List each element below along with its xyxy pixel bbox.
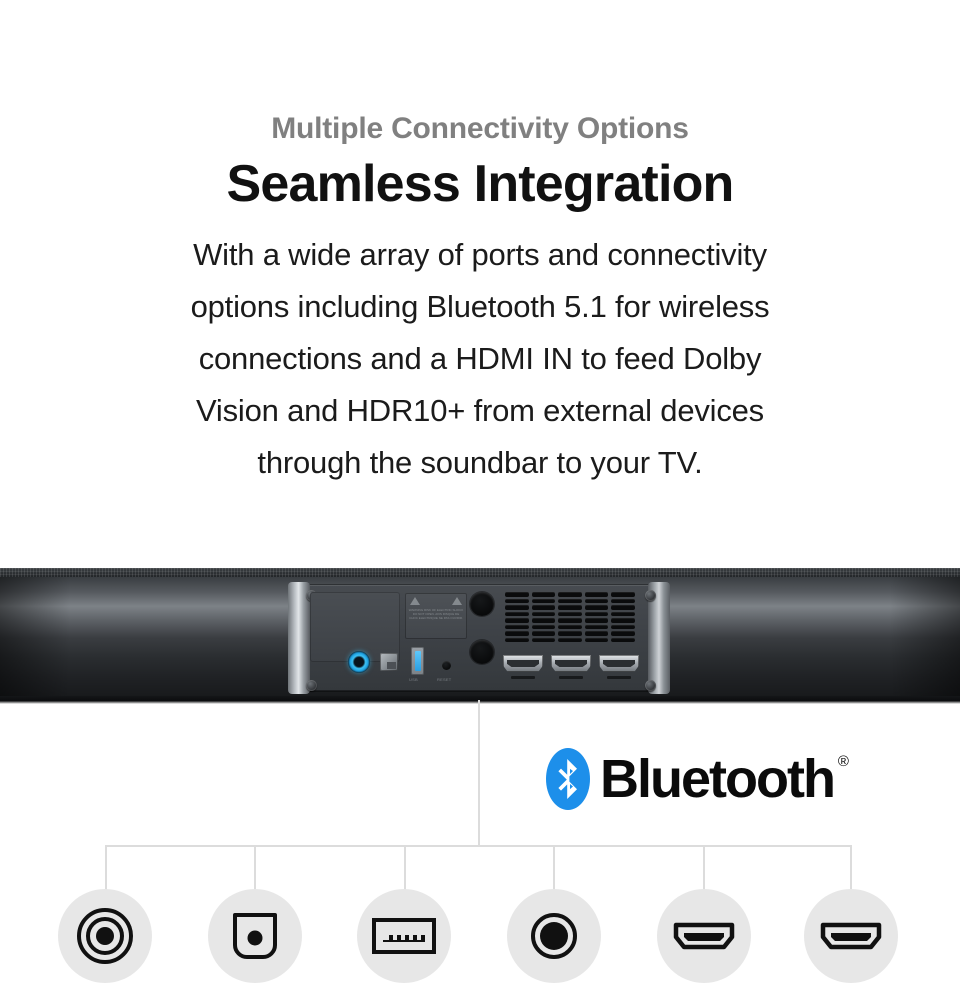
driver-hole-upper (470, 592, 494, 616)
warning-triangle-icon (452, 597, 462, 605)
vent-column (585, 592, 609, 642)
hdmi-port-shadow (559, 676, 583, 679)
panel-screw-top-right (645, 590, 656, 601)
registered-trademark-icon: ® (838, 754, 849, 769)
usb-icon (371, 915, 437, 957)
connector-line-drop (254, 846, 256, 891)
hdmi-port-shadow (511, 676, 535, 679)
connectivity-icon-hdmi-in (657, 889, 751, 983)
bluetooth-icon (546, 748, 590, 810)
bluetooth-logo: Bluetooth ® (546, 748, 834, 810)
body-line: connections and a HDMI IN to feed Dolby (0, 333, 960, 385)
page-title: Seamless Integration (0, 157, 960, 212)
connector-line-drop (850, 846, 852, 891)
driver-hole-lower (470, 640, 494, 664)
usb-port-caption: USB (409, 677, 418, 682)
connector-line-vertical-main (478, 700, 480, 847)
usb-jack (411, 647, 424, 675)
connector-line-horizontal (105, 845, 852, 847)
panel-screw-bottom-right (645, 680, 656, 691)
panel-screw-bottom-left (306, 680, 317, 691)
connector-line-drop (105, 846, 107, 891)
body-line: through the soundbar to your TV. (0, 437, 960, 489)
body-line: options including Bluetooth 5.1 for wire… (0, 281, 960, 333)
connector-line-drop (553, 846, 555, 891)
hdmi-in-icon (672, 919, 736, 953)
reset-port-caption: RESET (437, 677, 451, 682)
soundbar-bottom-edge (0, 696, 960, 704)
coaxial-icon (74, 905, 136, 967)
vent-column (505, 592, 529, 642)
connectivity-icon-coaxial (58, 889, 152, 983)
body-line: Vision and HDR10+ from external devices (0, 385, 960, 437)
hdmi-port-1 (503, 655, 543, 672)
vent-column (532, 592, 556, 642)
bluetooth-wordmark: Bluetooth ® (600, 752, 834, 806)
hdmi-port-shadow (607, 676, 631, 679)
eyebrow-text: Multiple Connectivity Options (0, 112, 960, 147)
vent-column (558, 592, 582, 642)
marketing-copy-block: Multiple Connectivity Options Seamless I… (0, 0, 960, 489)
bluetooth-wordmark-text: Bluetooth (600, 749, 834, 809)
connectivity-icon-usb (357, 889, 451, 983)
hdmi-out-icon (819, 919, 883, 953)
connectivity-icon-aux (507, 889, 601, 983)
connectivity-icon-hdmi-out (804, 889, 898, 983)
body-line: With a wide array of ports and connectiv… (0, 229, 960, 281)
hdmi-port-2 (551, 655, 591, 672)
connectivity-icon-optical (208, 889, 302, 983)
hdmi-port-3 (599, 655, 639, 672)
warning-triangle-icon (410, 597, 420, 605)
connector-line-drop (703, 846, 705, 891)
aux-jack-icon (526, 908, 582, 964)
reset-pinhole (442, 661, 451, 670)
connector-line-drop (404, 846, 406, 891)
spdif-jack (380, 653, 398, 671)
warning-label: WARNING RISK OF ELECTRIC SHOCK DO NOT OP… (405, 593, 467, 639)
warning-label-text: WARNING RISK OF ELECTRIC SHOCK DO NOT OP… (408, 608, 464, 620)
optical-jack (348, 651, 370, 673)
optical-icon (228, 909, 282, 963)
vent-column (611, 592, 635, 642)
ventilation-grid (505, 592, 635, 642)
body-paragraph: With a wide array of ports and connectiv… (0, 229, 960, 489)
